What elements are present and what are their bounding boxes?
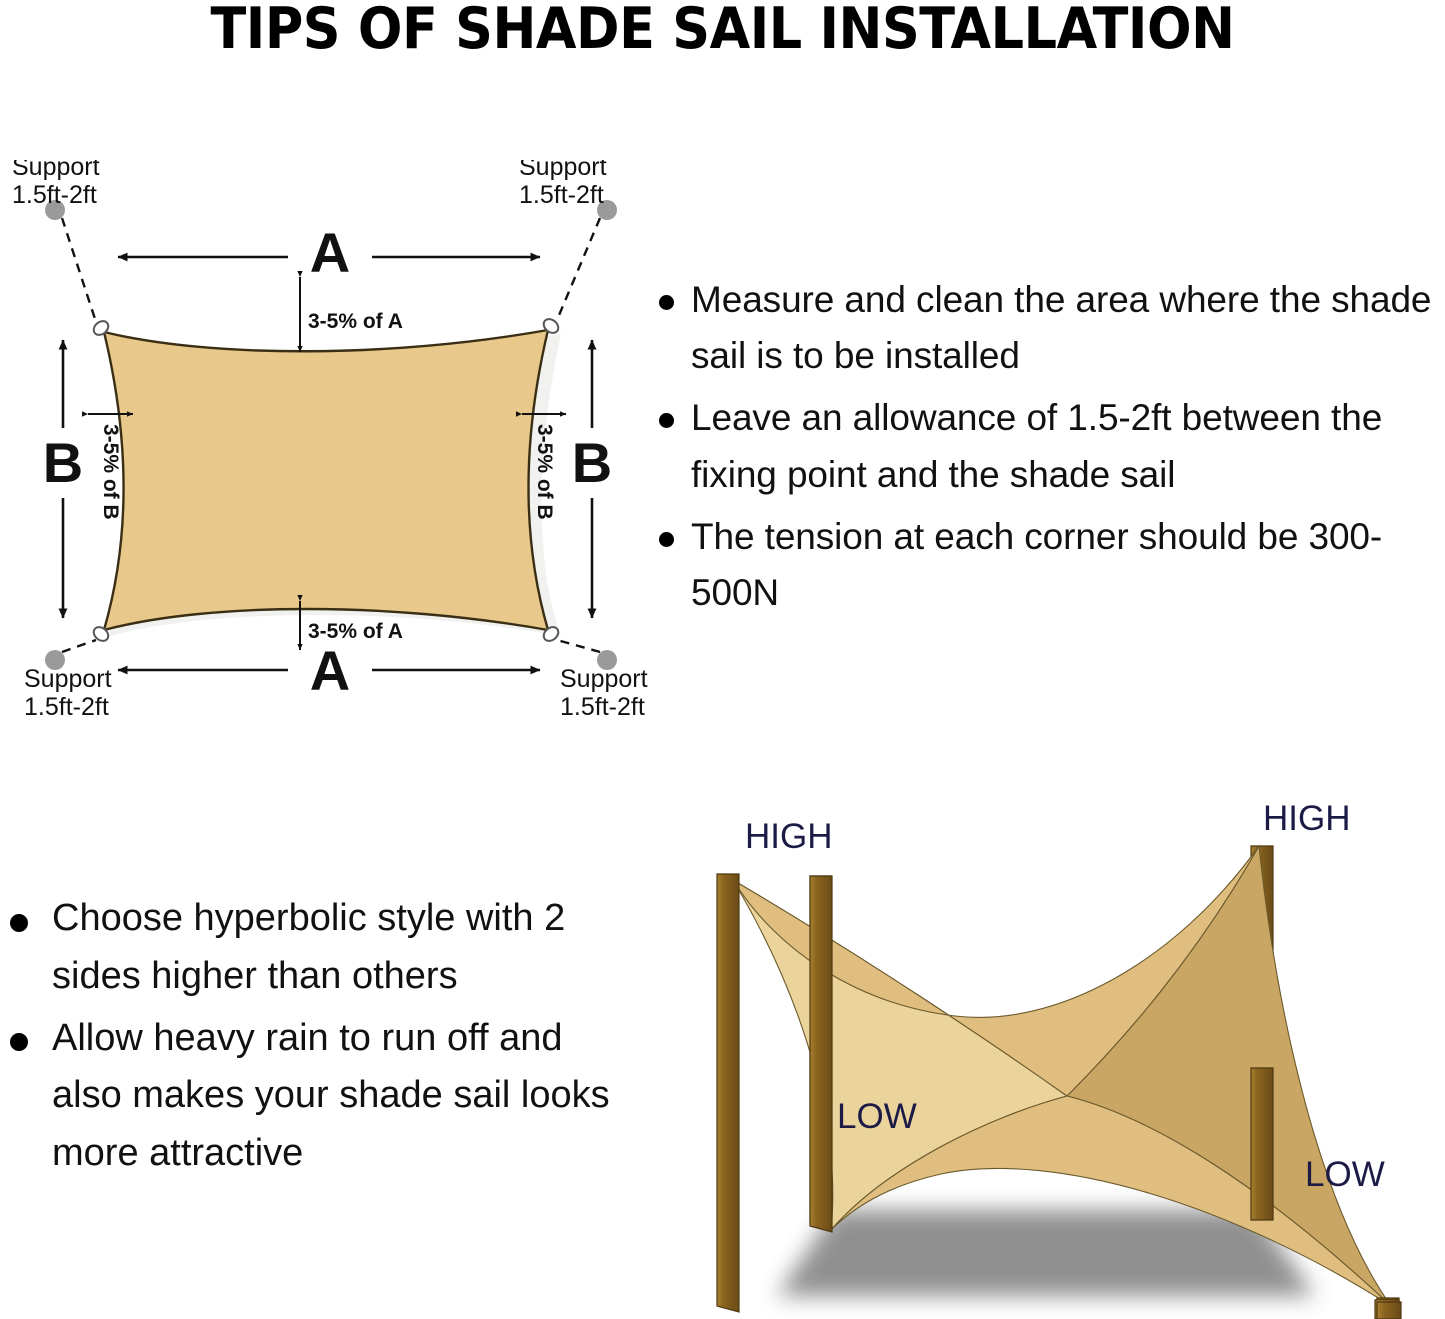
label-high-right: HIGH — [1263, 799, 1351, 838]
dim-a-bottom-label: A — [310, 639, 350, 702]
hyperbolic-sail-svg: HIGH HIGH LOW LOW — [655, 788, 1445, 1319]
sail-shape — [104, 330, 548, 630]
curve-a-top-label: 3-5% of A — [308, 310, 403, 333]
bullet-text: Leave an allowance of 1.5-2ft between th… — [691, 397, 1382, 494]
top-tips-list: Measure and clean the area where the sha… — [645, 272, 1445, 627]
hyperbolic-sail-diagram: HIGH HIGH LOW LOW — [655, 788, 1445, 1319]
support-label-top-right-line1: Support — [519, 160, 607, 181]
list-item: The tension at each corner should be 300… — [645, 509, 1445, 621]
curve-b-right-label: 3-5% of B — [533, 424, 556, 520]
bullet-dot-icon — [659, 532, 674, 547]
top-bullet-list: Measure and clean the area where the sha… — [645, 272, 1445, 621]
tether-bottom-left — [62, 640, 96, 652]
bullet-text: Allow heavy rain to run off and also mak… — [52, 1017, 610, 1175]
support-label-bottom-left-line2: 1.5ft-2ft — [24, 693, 109, 721]
page-title: TIPS OF SHADE SAIL INSTALLATION — [58, 0, 1387, 62]
dimension-b-right: B — [572, 340, 612, 618]
tether-bottom-right — [557, 640, 600, 652]
rectangular-sail-diagram: A 3-5% of A A 3-5% of A B — [0, 160, 670, 735]
bullet-text: Choose hyperbolic style with 2 sides hig… — [52, 897, 565, 997]
support-label-bottom-right-line1: Support — [560, 665, 648, 693]
dim-b-left-label: B — [43, 431, 83, 494]
dimension-a-bottom: A — [118, 639, 540, 702]
list-item: Allow heavy rain to run off and also mak… — [2, 1010, 627, 1183]
bullet-dot-icon — [10, 914, 28, 932]
bullet-dot-icon — [659, 413, 674, 428]
support-label-bottom-left-line1: Support — [24, 665, 112, 693]
support-label-bottom-right-line2: 1.5ft-2ft — [560, 693, 645, 721]
label-low-left: LOW — [837, 1097, 917, 1136]
list-item: Leave an allowance of 1.5-2ft between th… — [645, 390, 1445, 502]
rectangular-sail-svg: A 3-5% of A A 3-5% of A B — [0, 160, 670, 735]
infographic-page: TIPS OF SHADE SAIL INSTALLATION — [0, 0, 1445, 1319]
curve-a-top-callout: 3-5% of A — [300, 277, 403, 352]
curve-b-left-label: 3-5% of B — [99, 424, 122, 520]
support-label-top-left-line1: Support — [12, 160, 100, 181]
dimension-b-left: B — [43, 340, 83, 618]
post-high-left — [717, 874, 739, 1312]
bullet-text: Measure and clean the area where the sha… — [691, 279, 1431, 376]
dim-a-top-label: A — [310, 221, 350, 284]
label-low-right: LOW — [1305, 1155, 1385, 1194]
label-high-left: HIGH — [745, 817, 833, 856]
post-high-left-body — [717, 874, 739, 1312]
support-label-top-left-line2: 1.5ft-2ft — [12, 181, 97, 209]
bullet-dot-icon — [659, 295, 674, 310]
bullet-dot-icon — [10, 1033, 28, 1051]
post-high-right-lower — [1251, 1068, 1273, 1220]
support-label-top-right-line2: 1.5ft-2ft — [519, 181, 604, 209]
bottom-tips-list: Choose hyperbolic style with 2 sides hig… — [2, 890, 627, 1187]
tether-top-left — [62, 218, 96, 322]
dim-b-right-label: B — [572, 431, 612, 494]
post-front-right-low-full — [1377, 1302, 1401, 1319]
curve-a-bottom-label: 3-5% of A — [308, 620, 403, 643]
list-item: Choose hyperbolic style with 2 sides hig… — [2, 890, 627, 1006]
bottom-bullet-list: Choose hyperbolic style with 2 sides hig… — [2, 890, 627, 1183]
bullet-text: The tension at each corner should be 300… — [691, 516, 1382, 613]
list-item: Measure and clean the area where the sha… — [645, 272, 1445, 384]
post-low-left-real — [810, 876, 832, 1232]
dimension-a-top: A — [118, 221, 540, 284]
tether-top-right — [557, 218, 600, 320]
